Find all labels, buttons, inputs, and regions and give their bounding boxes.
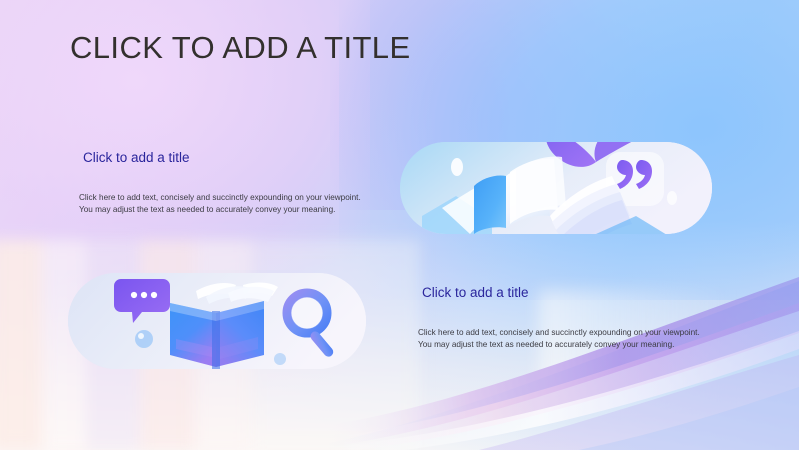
block-2-heading[interactable]: Click to add a title [422,285,710,300]
content-block-1: Click to add a title Click here to add t… [79,150,371,216]
decor-sphere [135,330,153,348]
presentation-slide: CLICK TO ADD A TITLE [0,0,799,450]
content-block-2: Click to add a title Click here to add t… [418,285,710,351]
block-1-heading[interactable]: Click to add a title [83,150,371,165]
block-1-body[interactable]: Click here to add text, concisely and su… [79,192,371,216]
slide-title[interactable]: CLICK TO ADD A TITLE [70,30,411,66]
block-2-body[interactable]: Click here to add text, concisely and su… [418,327,710,351]
image-card-open-book-search[interactable] [68,273,366,369]
image-card-open-book-quote[interactable] [400,142,712,234]
